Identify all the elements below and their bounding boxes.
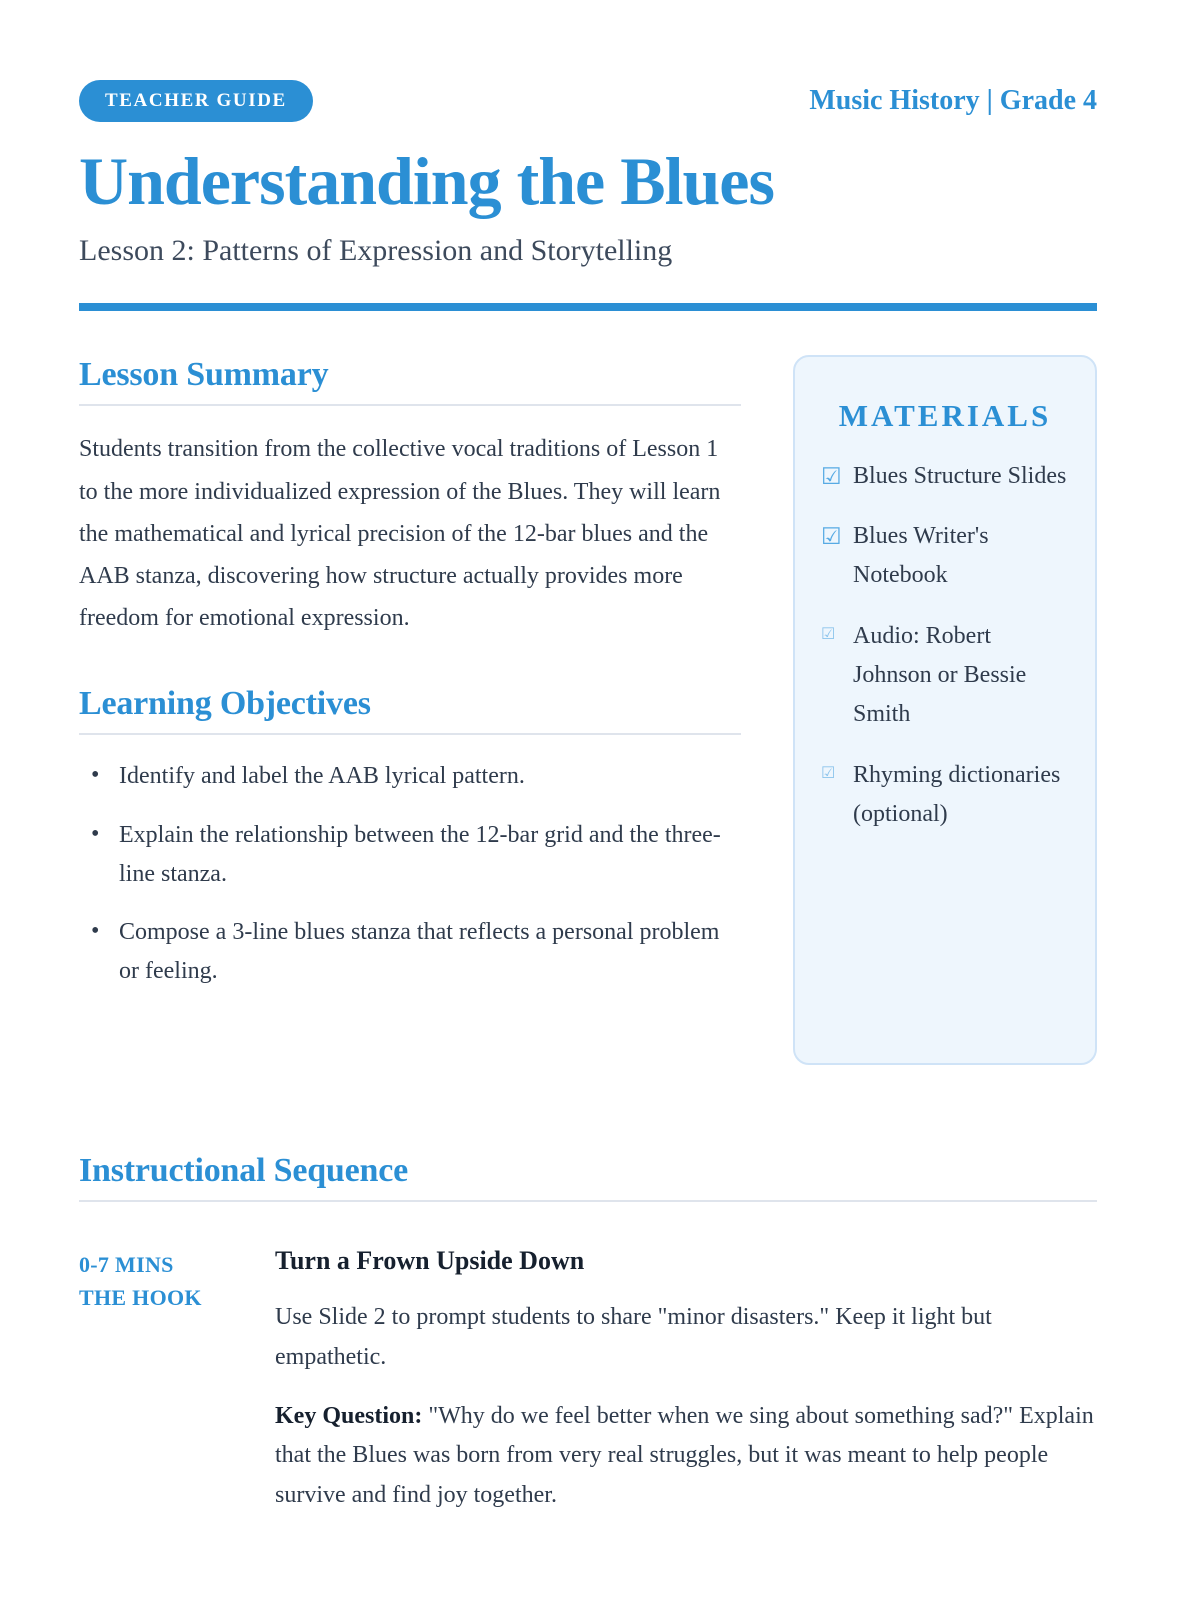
- sequence-block: 0-7 MINS THE HOOK Turn a Frown Upside Do…: [79, 1244, 1097, 1515]
- sequence-content: Turn a Frown Upside Down Use Slide 2 to …: [275, 1244, 1097, 1515]
- checkbox-checked-icon: ☑: [821, 457, 853, 495]
- list-item: ☑ Audio: Robert Johnson or Bessie Smith: [821, 617, 1069, 734]
- learning-objectives-heading: Learning Objectives: [79, 684, 741, 723]
- page-subtitle: Lesson 2: Patterns of Expression and Sto…: [79, 233, 1097, 269]
- lesson-summary-text: Students transition from the collective …: [79, 428, 741, 639]
- materials-list: ☑ Blues Structure Slides ☑ Blues Writer'…: [821, 457, 1069, 834]
- checkbox-checked-icon: ☑: [821, 617, 853, 648]
- list-item: ☑ Rhyming dictionaries (optional): [821, 756, 1069, 834]
- list-item: ☑ Blues Writer's Notebook: [821, 517, 1069, 595]
- key-question-label: Key Question:: [275, 1403, 422, 1429]
- header-accent-rule: [79, 303, 1097, 311]
- list-item: ☑ Blues Structure Slides: [821, 457, 1069, 496]
- checkbox-checked-icon: ☑: [821, 517, 853, 555]
- body-columns: Lesson Summary Students transition from …: [79, 355, 1097, 1065]
- sequence-phase-label: THE HOOK: [79, 1281, 275, 1314]
- activity-key-question: Key Question: "Why do we feel better whe…: [275, 1397, 1097, 1515]
- sequence-time-range: 0-7 MINS: [79, 1252, 174, 1277]
- side-column: MATERIALS ☑ Blues Structure Slides ☑ Blu…: [793, 355, 1097, 1065]
- lesson-summary-divider: [79, 404, 741, 406]
- list-item: Compose a 3-line blues stanza that refle…: [119, 913, 741, 991]
- document-header: TEACHER GUIDE Music History | Grade 4: [79, 0, 1097, 124]
- activity-description: Use Slide 2 to prompt students to share …: [275, 1298, 1097, 1377]
- learning-objectives-list: Identify and label the AAB lyrical patte…: [79, 757, 741, 991]
- activity-title: Turn a Frown Upside Down: [275, 1244, 1097, 1278]
- instructional-sequence-heading: Instructional Sequence: [79, 1151, 1097, 1190]
- materials-heading: MATERIALS: [821, 397, 1069, 434]
- main-column: Lesson Summary Students transition from …: [79, 355, 741, 991]
- list-item: Identify and label the AAB lyrical patte…: [119, 757, 741, 796]
- materials-card: MATERIALS ☑ Blues Structure Slides ☑ Blu…: [793, 355, 1097, 1065]
- lesson-summary-heading: Lesson Summary: [79, 355, 741, 394]
- learning-objectives-divider: [79, 733, 741, 735]
- instructional-sequence-section: Instructional Sequence 0-7 MINS THE HOOK…: [79, 1151, 1097, 1515]
- teacher-guide-badge: TEACHER GUIDE: [79, 80, 313, 122]
- materials-item-label: Blues Structure Slides: [853, 457, 1069, 496]
- list-item: Explain the relationship between the 12-…: [119, 816, 741, 894]
- materials-item-label: Audio: Robert Johnson or Bessie Smith: [853, 617, 1069, 734]
- sequence-timing: 0-7 MINS THE HOOK: [79, 1244, 275, 1314]
- materials-item-label: Rhyming dictionaries (optional): [853, 756, 1069, 834]
- course-grade-meta: Music History | Grade 4: [809, 87, 1097, 115]
- instructional-sequence-divider: [79, 1200, 1097, 1202]
- page-title: Understanding the Blues: [79, 146, 1097, 217]
- lesson-plan-page: TEACHER GUIDE Music History | Grade 4 Un…: [0, 0, 1200, 1600]
- checkbox-checked-icon: ☑: [821, 756, 853, 787]
- page-content: TEACHER GUIDE Music History | Grade 4 Un…: [79, 0, 1097, 1515]
- materials-item-label: Blues Writer's Notebook: [853, 517, 1069, 595]
